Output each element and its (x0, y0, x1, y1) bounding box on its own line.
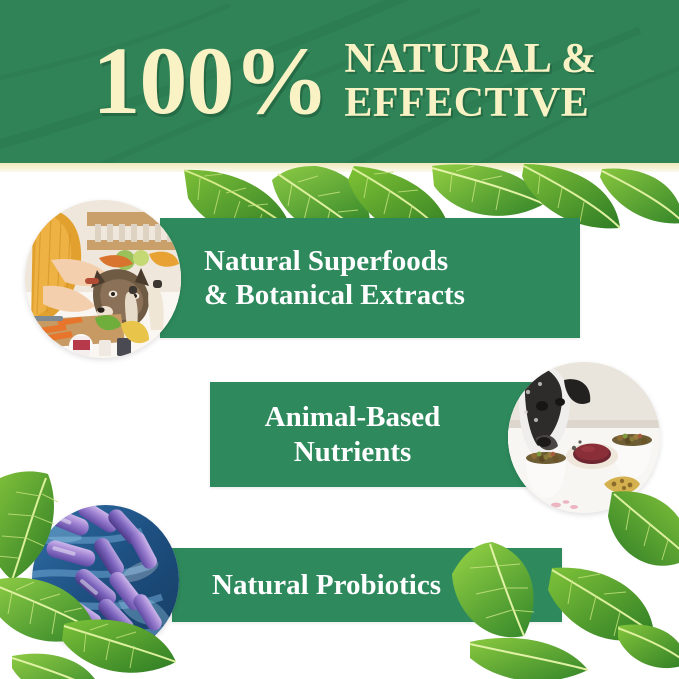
feature-banner-natural-superfoods[interactable]: Natural Superfoods & Botanical Extracts (160, 218, 580, 338)
leaf-right-4 (470, 632, 590, 679)
feature-photo-natural-superfoods (25, 200, 181, 358)
percent-value: 100% (92, 37, 328, 125)
kitchen-dog-feeding-image (25, 200, 181, 358)
promotional-infographic: 100% NATURAL & EFFECTIVE (0, 0, 679, 679)
leaf-left-1 (0, 470, 72, 586)
feature-label-natural-superfoods: Natural Superfoods & Botanical Extracts (204, 244, 465, 312)
headline: NATURAL & EFFECTIVE (344, 38, 596, 125)
headline-line-2: EFFECTIVE (344, 82, 589, 126)
leaf-left-4 (12, 648, 104, 679)
headline-line-1: NATURAL & (344, 38, 596, 82)
leaf-right-5 (618, 620, 679, 679)
feature-label-animal-based-nutrients: Animal-Based Nutrients (265, 400, 441, 468)
header-banner: 100% NATURAL & EFFECTIVE (0, 0, 679, 163)
leaf-top-6 (600, 165, 679, 229)
feature-label-natural-probiotics: Natural Probiotics (212, 568, 441, 602)
